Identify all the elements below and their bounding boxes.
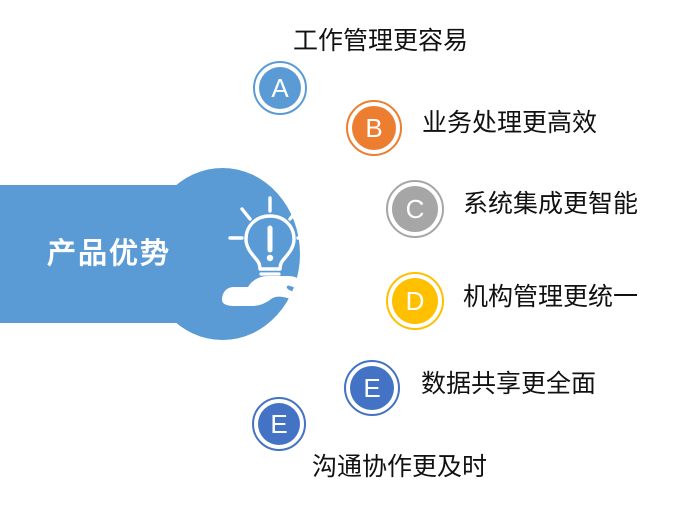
item-label-b: 业务处理更高效 <box>422 111 597 136</box>
node-circle-e2[interactable]: E <box>252 397 306 451</box>
node-letter-a: A <box>271 75 288 101</box>
node-circle-a[interactable]: A <box>253 61 307 115</box>
node-letter-e1: E <box>363 375 380 401</box>
node-letter-d: D <box>406 288 425 314</box>
product-advantage-banner: 产品优势 <box>0 168 300 340</box>
node-circle-d[interactable]: D <box>386 272 444 330</box>
item-label-c: 系统集成更智能 <box>463 192 638 217</box>
item-label-e2: 沟通协作更及时 <box>312 455 487 480</box>
item-label-a: 工作管理更容易 <box>293 29 468 54</box>
node-letter-b: B <box>365 115 382 141</box>
banner-title: 产品优势 <box>0 185 218 323</box>
node-circle-e1[interactable]: E <box>344 360 400 416</box>
item-label-d: 机构管理更统一 <box>463 285 638 310</box>
node-circle-b[interactable]: B <box>346 100 402 156</box>
diagram-canvas: 产品优势 <box>0 0 673 515</box>
node-circle-c[interactable]: C <box>386 180 444 238</box>
node-letter-c: C <box>406 196 425 222</box>
idea-bulb-in-hand-icon <box>218 192 322 312</box>
item-label-e1: 数据共享更全面 <box>421 372 596 397</box>
node-letter-e2: E <box>270 411 287 437</box>
